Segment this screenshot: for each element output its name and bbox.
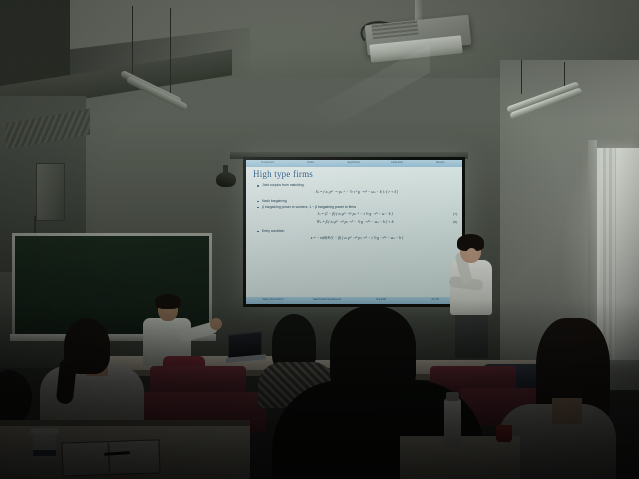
light-hanger-rod bbox=[170, 8, 171, 94]
window-curtain bbox=[600, 148, 616, 360]
nav-section-1: Model bbox=[289, 160, 332, 167]
audience-woman-long-hair-neck bbox=[552, 398, 582, 424]
seated-discussant-hair bbox=[155, 294, 181, 309]
slide-equation-0: Sₕ = ( zₕ pᴴ ⁻ᵃᵞ pₕ⁻¹ − ½ τ ᴴ g ⁻ᵃᵞ⁄² − … bbox=[257, 190, 457, 195]
red-cup bbox=[496, 425, 512, 442]
light-hanger-rod bbox=[132, 6, 133, 84]
footer-date: Aug 2015 bbox=[354, 297, 408, 304]
presenter-legs bbox=[455, 310, 488, 358]
water-bottle-cap bbox=[446, 392, 459, 401]
equation-1-body: Jₕ = (1 − β) ( zₕ pᴴ ⁻¹⁄ᵃ pₕ⁻¹ − τ ½ g ⁻… bbox=[317, 212, 393, 216]
slide-equation-1: Jₕ = (1 − β) ( zₕ pᴴ ⁻¹⁄ᵃ pₕ⁻¹ − τ ½ g ⁻… bbox=[257, 212, 457, 217]
dome-camera-icon bbox=[216, 172, 236, 187]
seated-discussant-hand bbox=[210, 318, 222, 330]
slide-bullet-0: Joint surplus from matching: bbox=[257, 183, 457, 188]
slide-equation-3: κ = − m(θ)⁄θ (1 − β) ( zₕ pᴴ ⁻ᵃ⁄² pₕ⁻ᵃ⁄²… bbox=[257, 236, 457, 241]
chair-back-left bbox=[150, 366, 246, 394]
nav-section-3: Calibration bbox=[376, 160, 419, 167]
slide-bullet-1: Nash bargaining bbox=[257, 199, 457, 204]
slide-body: Joint surplus from matching: Sₕ = ( zₕ p… bbox=[257, 183, 457, 244]
equation-2-body: Wₕ = β ( zₕ pᴴ ⁻ᵃ⁄ᵇ pₕ⁻ᵃ⁄² − ½ g ⁻ᵃ⁄²ᵇ −… bbox=[317, 220, 394, 224]
water-bottle bbox=[444, 398, 461, 448]
light-hanger-rod bbox=[521, 60, 522, 94]
open-notebook bbox=[61, 439, 160, 476]
projection-screen: Introduction Model Equilibrium Calibrati… bbox=[243, 157, 465, 307]
coffee-cup-band bbox=[33, 450, 56, 456]
coffee-cup-lid bbox=[30, 428, 59, 434]
equation-1-tag: (7) bbox=[453, 212, 457, 217]
classroom-photo: Introduction Model Equilibrium Calibrati… bbox=[0, 0, 639, 479]
slide-bullet-3: Entry condition bbox=[257, 229, 457, 234]
footer-author: Wang, Chen and Liu bbox=[246, 297, 300, 304]
equation-2-tag: (8) bbox=[453, 220, 457, 225]
slide-footer: Wang, Chen and Liu Search and Unemployme… bbox=[246, 297, 462, 304]
beamer-slide: Introduction Model Equilibrium Calibrati… bbox=[246, 160, 462, 304]
presenter-hand bbox=[466, 248, 477, 261]
light-hanger-rod bbox=[564, 62, 565, 88]
nav-section-4: Results bbox=[419, 160, 462, 167]
slide-title: High type firms bbox=[253, 169, 313, 179]
foreground-desk-edge bbox=[0, 420, 250, 426]
slide-bullet-2: β bargaining power to workers, 1 − β bar… bbox=[257, 205, 457, 210]
slide-equation-2: Wₕ = β ( zₕ pᴴ ⁻ᵃ⁄ᵇ pₕ⁻ᵃ⁄² − ½ g ⁻ᵃ⁄²ᵇ −… bbox=[257, 220, 457, 225]
slide-navbar: Introduction Model Equilibrium Calibrati… bbox=[246, 160, 462, 167]
wall-speaker-box bbox=[36, 163, 65, 221]
footer-title: Search and Unemployment bbox=[300, 297, 354, 304]
nav-section-2: Equilibrium bbox=[332, 160, 375, 167]
nav-section-0: Introduction bbox=[246, 160, 289, 167]
